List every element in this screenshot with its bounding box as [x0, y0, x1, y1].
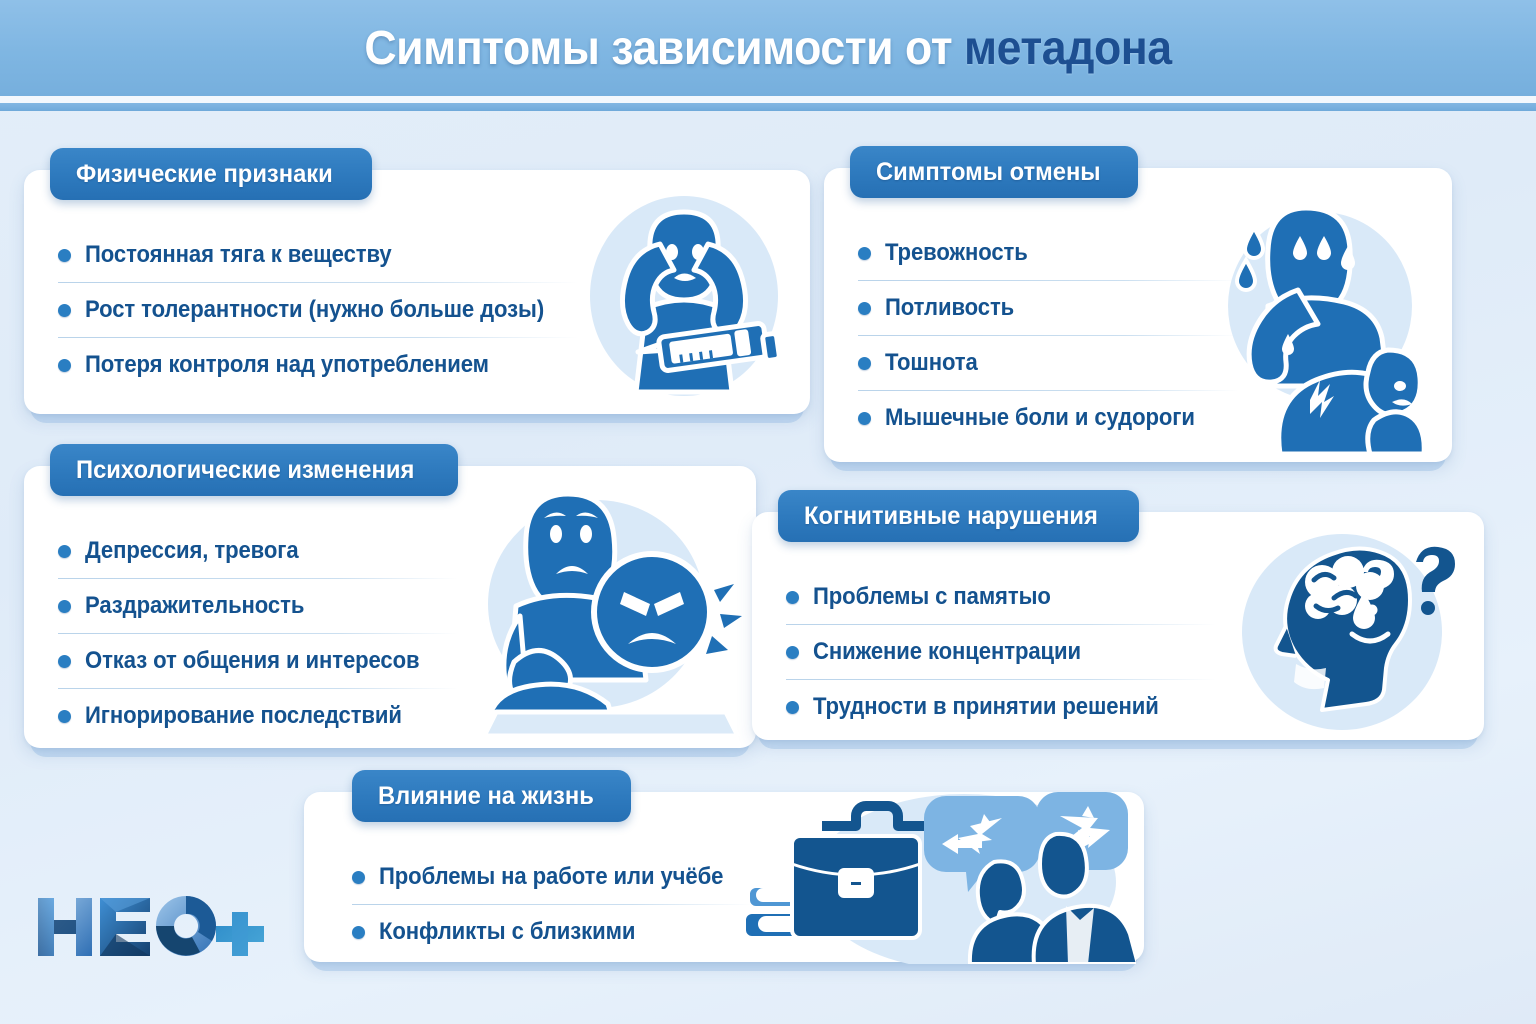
- list-item-label: Трудности в принятии решений: [813, 693, 1159, 721]
- list-item-label: Тревожность: [885, 239, 1028, 267]
- list-item-label: Постоянная тяга к веществу: [85, 241, 392, 269]
- neo-plus-logo: [34, 890, 264, 964]
- card-withdrawal-symptoms: Симптомы отмены Тревожность Потливость Т…: [824, 168, 1452, 462]
- symptom-list-psychological-changes: Депрессия, тревога Раздражительность Отк…: [58, 524, 458, 743]
- list-item-label: Отказ от общения и интересов: [85, 647, 420, 675]
- bullet-icon: [786, 701, 799, 714]
- briefcase-books-and-arguing-people-icon: [736, 778, 1136, 964]
- bullet-icon: [352, 926, 365, 939]
- bullet-icon: [858, 357, 871, 370]
- list-item: Потеря контроля над употреблением: [58, 338, 578, 392]
- list-item-label: Тошнота: [885, 349, 978, 377]
- card-header-physical-signs: Физические признаки: [50, 148, 372, 200]
- list-item: Конфликты с близкими: [352, 905, 752, 959]
- list-item-label: Снижение концентрации: [813, 638, 1081, 666]
- list-item-label: Потливость: [885, 294, 1014, 322]
- bullet-icon: [786, 646, 799, 659]
- card-physical-signs: Физические признаки Постоянная тяга к ве…: [24, 170, 810, 414]
- bullet-icon: [858, 412, 871, 425]
- list-item: Потливость: [858, 281, 1238, 335]
- card-cognitive-impairment: Когнитивные нарушения Проблемы с памятыо…: [752, 512, 1484, 740]
- list-item-label: Раздражительность: [85, 592, 304, 620]
- header-rule-blue: [0, 103, 1536, 111]
- bullet-icon: [58, 304, 71, 317]
- sad-person-with-angry-face-icon: [456, 486, 748, 736]
- symptom-list-life-impact: Проблемы на работе или учёбе Конфликты с…: [352, 850, 752, 959]
- list-item-label: Потеря контроля над употреблением: [85, 351, 489, 379]
- list-item: Трудности в принятии решений: [786, 680, 1216, 734]
- list-item: Игнорирование последствий: [58, 689, 458, 743]
- list-item: Раздражительность: [58, 579, 458, 633]
- list-item: Постоянная тяга к веществу: [58, 228, 578, 282]
- list-item: Рост толерантности (нужно больше дозы): [58, 283, 578, 337]
- symptom-list-physical-signs: Постоянная тяга к веществу Рост толерант…: [58, 228, 578, 392]
- card-psychological-changes: Психологические изменения Депрессия, тре…: [24, 466, 756, 748]
- card-title-cognitive-impairment: Когнитивные нарушения: [804, 502, 1098, 531]
- card-header-psychological-changes: Психологические изменения: [50, 444, 458, 496]
- symptom-list-withdrawal-symptoms: Тревожность Потливость Тошнота Мышечные …: [858, 226, 1238, 445]
- card-header-cognitive-impairment: Когнитивные нарушения: [778, 490, 1139, 542]
- page-title-accent: метадона: [964, 22, 1172, 75]
- bullet-icon: [58, 545, 71, 558]
- list-item: Депрессия, тревога: [58, 524, 458, 578]
- card-header-withdrawal-symptoms: Симптомы отмены: [850, 146, 1138, 198]
- card-title-withdrawal-symptoms: Симптомы отмены: [876, 158, 1101, 187]
- stressed-person-with-syringe-icon: [568, 188, 804, 404]
- list-item: Снижение концентрации: [786, 625, 1216, 679]
- page-title-plain: Симптомы зависимости от: [364, 22, 964, 75]
- list-item: Мышечные боли и судороги: [858, 391, 1238, 445]
- list-item-label: Игнорирование последствий: [85, 702, 402, 730]
- card-title-life-impact: Влияние на жизнь: [378, 782, 594, 811]
- list-item: Отказ от общения и интересов: [58, 634, 458, 688]
- bullet-icon: [858, 247, 871, 260]
- list-item: Проблемы с памятыо: [786, 570, 1216, 624]
- symptom-list-cognitive-impairment: Проблемы с памятыо Снижение концентрации…: [786, 570, 1216, 734]
- card-title-psychological-changes: Психологические изменения: [76, 456, 414, 485]
- page-title: Симптомы зависимости от метадона: [364, 21, 1171, 76]
- list-item: Тошнота: [858, 336, 1238, 390]
- list-item-label: Проблемы на работе или учёбе: [379, 863, 723, 891]
- bullet-icon: [58, 249, 71, 262]
- list-item-label: Проблемы с памятыо: [813, 583, 1051, 611]
- list-item: Тревожность: [858, 226, 1238, 280]
- head-with-brain-and-question-marks-icon: [1230, 528, 1466, 736]
- bullet-icon: [58, 600, 71, 613]
- card-title-physical-signs: Физические признаки: [76, 160, 333, 189]
- sweating-person-with-cramps-icon: [1202, 194, 1448, 454]
- bullet-icon: [58, 359, 71, 372]
- card-header-life-impact: Влияние на жизнь: [352, 770, 631, 822]
- card-life-impact: Влияние на жизнь Проблемы на работе или …: [304, 792, 1144, 962]
- bullet-icon: [58, 710, 71, 723]
- list-item: Проблемы на работе или учёбе: [352, 850, 752, 904]
- bullet-icon: [58, 655, 71, 668]
- bullet-icon: [858, 302, 871, 315]
- list-item-label: Рост толерантности (нужно больше дозы): [85, 296, 544, 324]
- header-rule-white: [0, 96, 1536, 103]
- bullet-icon: [352, 871, 365, 884]
- list-item-label: Депрессия, тревога: [85, 537, 299, 565]
- page-header: Симптомы зависимости от метадона: [0, 0, 1536, 96]
- list-item-label: Мышечные боли и судороги: [885, 404, 1195, 432]
- list-item-label: Конфликты с близкими: [379, 918, 635, 946]
- bullet-icon: [786, 591, 799, 604]
